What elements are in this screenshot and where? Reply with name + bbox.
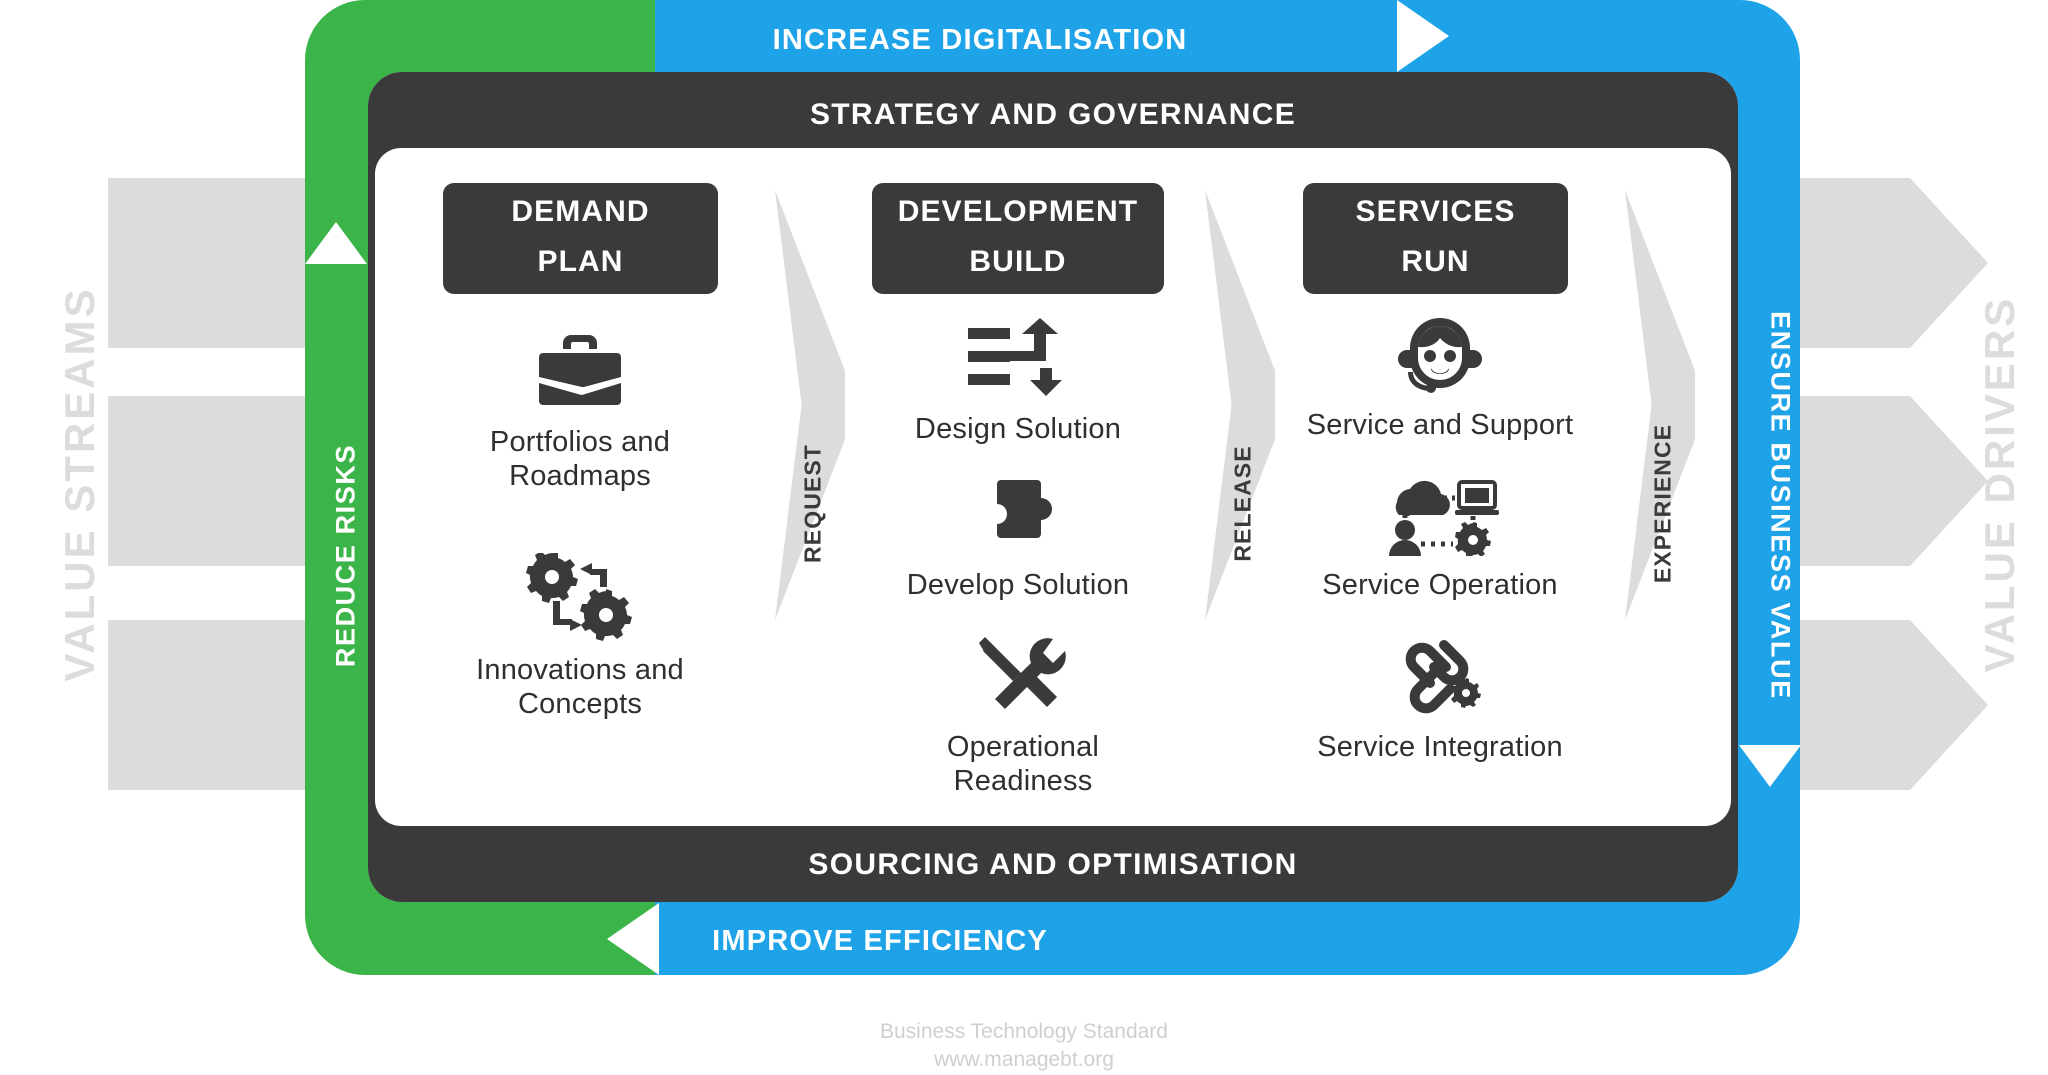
column-header-demand[interactable]: DEMAND PLAN: [443, 183, 718, 294]
sourcing-and-optimisation-label: SOURCING AND OPTIMISATION: [773, 848, 1333, 882]
improve-efficiency-label: IMPROVE EFFICIENCY: [600, 925, 1160, 958]
headset-agent-icon: [1295, 308, 1585, 400]
item-label: Operational Readiness: [878, 730, 1168, 798]
column-header-services[interactable]: SERVICES RUN: [1303, 183, 1568, 294]
item-label: Design Solution: [878, 412, 1158, 446]
value-drivers-label: VALUE DRIVERS: [1976, 284, 2024, 684]
top-band-arrow-notch-icon: [1397, 0, 1449, 72]
column-demand-title: DEMAND: [443, 196, 718, 228]
column-header-development[interactable]: DEVELOPMENT BUILD: [872, 183, 1164, 294]
flow-arrows-icon: [878, 312, 1158, 404]
ensure-value-down-arrow-icon: [1739, 745, 1801, 787]
chain-link-gear-icon: [1295, 630, 1585, 722]
item-design-solution[interactable]: Design Solution: [878, 312, 1158, 446]
value-streams-label: VALUE STREAMS: [56, 284, 104, 684]
footer-website-url[interactable]: www.managebt.org: [0, 1046, 2048, 1074]
divider-request-label: REQUEST: [800, 404, 827, 604]
footer-standard-name: Business Technology Standard: [0, 1018, 2048, 1046]
strategy-and-governance-label: STRATEGY AND GOVERNANCE: [773, 98, 1333, 132]
bottom-band-arrow-notch-icon: [607, 903, 659, 975]
divider-experience-label: EXPERIENCE: [1650, 389, 1677, 619]
item-operational-readiness[interactable]: Operational Readiness: [878, 630, 1168, 798]
column-services-title: SERVICES: [1303, 196, 1568, 228]
tools-icon: [878, 630, 1168, 722]
increase-digitalisation-label: INCREASE DIGITALISATION: [700, 24, 1260, 57]
puzzle-piece-icon: [878, 468, 1158, 560]
diagram-canvas: VALUE STREAMS VALUE DRIVERS INCREASE DIG…: [0, 0, 2048, 1075]
ensure-business-value-label: ENSURE BUSINESS VALUE: [1765, 306, 1796, 706]
gears-cycle-icon: [440, 553, 720, 645]
item-service-and-support[interactable]: Service and Support: [1295, 308, 1585, 442]
item-label: Service Integration: [1295, 730, 1585, 764]
footer: Business Technology Standard www.manageb…: [0, 1018, 2048, 1075]
cloud-network-icon: [1295, 468, 1585, 560]
reduce-risks-label: REDUCE RISKS: [331, 396, 362, 716]
item-service-integration[interactable]: Service Integration: [1295, 630, 1585, 764]
item-label: Service Operation: [1295, 568, 1585, 602]
item-develop-solution[interactable]: Develop Solution: [878, 468, 1158, 602]
item-service-operation[interactable]: Service Operation: [1295, 468, 1585, 602]
item-label: Innovations and Concepts: [440, 653, 720, 721]
column-development-subtitle: BUILD: [872, 246, 1164, 278]
briefcase-icon: [440, 325, 720, 417]
reduce-risks-up-arrow-icon: [305, 222, 367, 264]
column-demand-subtitle: PLAN: [443, 246, 718, 278]
item-label: Develop Solution: [878, 568, 1158, 602]
column-services-subtitle: RUN: [1303, 246, 1568, 278]
item-label: Service and Support: [1295, 408, 1585, 442]
item-portfolios-and-roadmaps[interactable]: Portfolios and Roadmaps: [440, 325, 720, 493]
divider-release-label: RELEASE: [1230, 404, 1257, 604]
item-innovations-and-concepts[interactable]: Innovations and Concepts: [440, 553, 720, 721]
column-development-title: DEVELOPMENT: [872, 196, 1164, 228]
item-label: Portfolios and Roadmaps: [440, 425, 720, 493]
